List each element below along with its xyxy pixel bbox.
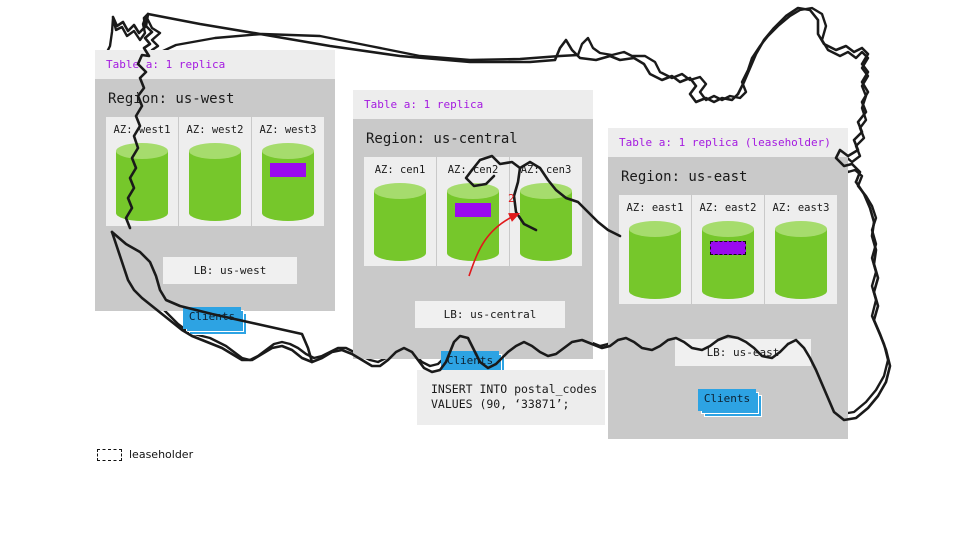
az-cell-cen2[interactable]: AZ: cen2 <box>437 157 510 266</box>
region-header-us-east: Table a: 1 replica (leaseholder) <box>608 128 848 157</box>
az-cell-west2[interactable]: AZ: west2 <box>179 117 252 226</box>
az-label-east1: AZ: east1 <box>619 202 691 214</box>
cylinder-body <box>447 191 499 253</box>
leaseholder-marker-east2 <box>710 241 746 255</box>
diagram-canvas: Table a: 1 replica Region: us-west AZ: w… <box>0 0 960 540</box>
cylinder-top <box>775 221 827 237</box>
region-title-us-central: Region: us-central <box>353 119 593 157</box>
node-cylinder-east1[interactable] <box>629 221 681 295</box>
region-panel-us-central: Table a: 1 replica Region: us-central AZ… <box>353 90 593 359</box>
cylinder-body <box>374 191 426 253</box>
node-cylinder-west2[interactable] <box>189 143 241 217</box>
node-cylinder-cen3[interactable] <box>520 183 572 257</box>
load-balancer-us-west[interactable]: LB: us-west <box>163 257 297 284</box>
region-body-us-west: Region: us-west AZ: west1 AZ: west2 <box>95 79 335 311</box>
az-row-us-central: AZ: cen1 AZ: cen2 <box>364 157 582 266</box>
replica-marker-west3 <box>270 163 306 177</box>
cylinder-top <box>262 143 314 159</box>
cylinder-body <box>189 151 241 213</box>
cylinder-top <box>374 183 426 199</box>
cylinder-body <box>520 191 572 253</box>
region-header-us-central: Table a: 1 replica <box>353 90 593 119</box>
az-cell-east1[interactable]: AZ: east1 <box>619 195 692 304</box>
node-cylinder-west1[interactable] <box>116 143 168 217</box>
cylinder-top <box>702 221 754 237</box>
az-label-west1: AZ: west1 <box>106 124 178 136</box>
cylinder-top <box>629 221 681 237</box>
cylinder-top <box>189 143 241 159</box>
az-cell-east2[interactable]: AZ: east2 <box>692 195 765 304</box>
cylinder-top <box>520 183 572 199</box>
cylinder-body <box>262 151 314 213</box>
legend-label: leaseholder <box>129 448 193 461</box>
region-header-us-west: Table a: 1 replica <box>95 50 335 79</box>
az-row-us-east: AZ: east1 AZ: east2 <box>619 195 837 304</box>
sql-statement-box: INSERT INTO postal_codes VALUES (90, ‘33… <box>417 370 605 425</box>
az-label-east3: AZ: east3 <box>765 202 837 214</box>
cylinder-top <box>447 183 499 199</box>
az-row-us-west: AZ: west1 AZ: west2 AZ <box>106 117 324 226</box>
az-label-west2: AZ: west2 <box>179 124 251 136</box>
az-label-west3: AZ: west3 <box>252 124 324 136</box>
region-title-us-west: Region: us-west <box>95 79 335 117</box>
load-balancer-us-central[interactable]: LB: us-central <box>415 301 565 328</box>
az-cell-cen1[interactable]: AZ: cen1 <box>364 157 437 266</box>
clients-label[interactable]: Clients <box>183 307 241 329</box>
node-cylinder-cen1[interactable] <box>374 183 426 257</box>
dashed-rect-icon <box>97 449 122 461</box>
az-label-cen2: AZ: cen2 <box>437 164 509 176</box>
region-title-us-east: Region: us-east <box>608 157 848 195</box>
legend: leaseholder <box>97 448 193 461</box>
clients-us-east[interactable]: Clients <box>698 389 756 411</box>
az-cell-west1[interactable]: AZ: west1 <box>106 117 179 226</box>
node-cylinder-west3[interactable] <box>262 143 314 217</box>
az-label-cen3: AZ: cen3 <box>510 164 582 176</box>
flow-arrow-label: 2 <box>508 192 515 205</box>
clients-us-west[interactable]: Clients <box>183 307 241 329</box>
cylinder-top <box>116 143 168 159</box>
region-body-us-east: Region: us-east AZ: east1 AZ: east2 <box>608 157 848 439</box>
region-body-us-central: Region: us-central AZ: cen1 AZ: cen2 <box>353 119 593 359</box>
clients-label[interactable]: Clients <box>698 389 756 411</box>
node-cylinder-east2[interactable] <box>702 221 754 295</box>
cylinder-body <box>702 229 754 291</box>
node-cylinder-cen2[interactable] <box>447 183 499 257</box>
node-cylinder-east3[interactable] <box>775 221 827 295</box>
az-cell-cen3[interactable]: AZ: cen3 <box>510 157 582 266</box>
cylinder-body <box>629 229 681 291</box>
az-label-cen1: AZ: cen1 <box>364 164 436 176</box>
region-panel-us-west: Table a: 1 replica Region: us-west AZ: w… <box>95 50 335 311</box>
cylinder-body <box>116 151 168 213</box>
az-cell-east3[interactable]: AZ: east3 <box>765 195 837 304</box>
az-cell-west3[interactable]: AZ: west3 <box>252 117 324 226</box>
load-balancer-us-east[interactable]: LB: us-east <box>675 339 811 366</box>
az-label-east2: AZ: east2 <box>692 202 764 214</box>
cylinder-body <box>775 229 827 291</box>
replica-marker-cen2 <box>455 203 491 217</box>
region-panel-us-east: Table a: 1 replica (leaseholder) Region:… <box>608 128 848 439</box>
